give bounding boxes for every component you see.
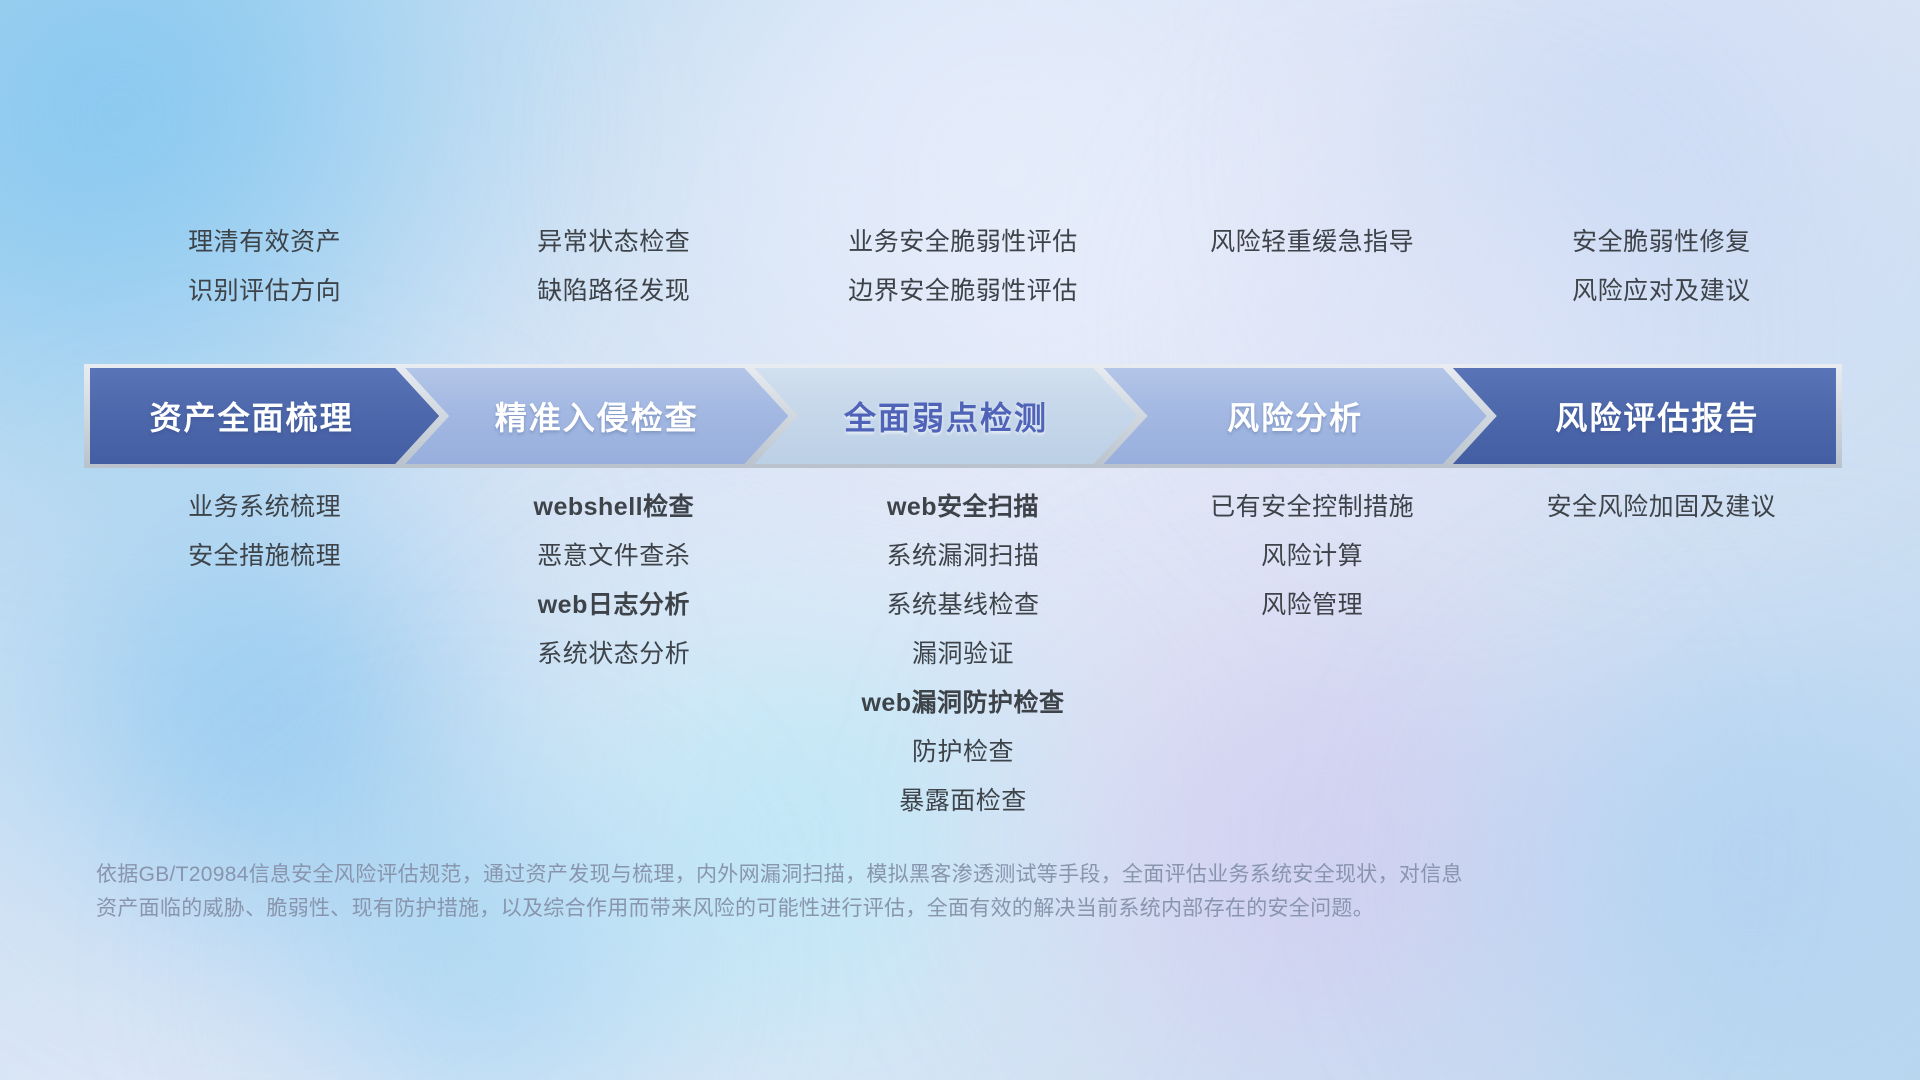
stage-activity-item: web日志分析 — [538, 593, 690, 618]
stage-activity-item: 安全措施梳理 — [188, 544, 341, 569]
stage-inputs-row: 理清有效资产识别评估方向异常状态检查缺陷路径发现业务安全脆弱性评估边界安全脆弱性… — [0, 230, 1920, 340]
process-arrow-label: 全面弱点检测 — [754, 393, 1137, 439]
stage-input-item: 理清有效资产 — [188, 230, 341, 255]
stage-input-item: 风险应对及建议 — [1572, 279, 1751, 304]
process-arrow-label: 资产全面梳理 — [90, 393, 439, 439]
stage-input-item: 异常状态检查 — [537, 230, 690, 255]
stage-activity-item: 系统漏洞扫描 — [886, 544, 1039, 569]
stage-activity-item: web漏洞防护检查 — [861, 691, 1064, 716]
stage-activity-item: 防护检查 — [912, 740, 1014, 765]
stage-activity-item: webshell检查 — [534, 495, 695, 520]
process-arrow-1[interactable]: 资产全面梳理 — [90, 368, 439, 464]
stage-input-item: 业务安全脆弱性评估 — [848, 230, 1078, 255]
stage-inputs-column: 业务安全脆弱性评估边界安全脆弱性评估 — [763, 230, 1163, 328]
stage-input-item: 边界安全脆弱性评估 — [848, 279, 1078, 304]
stage-activity-item: 暴露面检查 — [899, 789, 1027, 814]
process-arrow-label: 风险分析 — [1104, 393, 1487, 439]
stage-activity-item: web安全扫描 — [887, 495, 1039, 520]
stage-inputs-column: 风险轻重缓急指导 — [1112, 230, 1512, 279]
stage-input-item: 识别评估方向 — [188, 279, 341, 304]
stage-activities-column: web安全扫描系统漏洞扫描系统基线检查漏洞验证web漏洞防护检查防护检查暴露面检… — [763, 495, 1163, 838]
stage-input-item: 风险轻重缓急指导 — [1210, 230, 1414, 255]
stage-activities-column: 安全风险加固及建议 — [1461, 495, 1861, 544]
stage-activity-item: 已有安全控制措施 — [1210, 495, 1414, 520]
process-arrow-5[interactable]: 风险评估报告 — [1453, 368, 1836, 464]
stage-activity-item: 安全风险加固及建议 — [1547, 495, 1777, 520]
footer-line-2: 资产面临的威胁、脆弱性、现有防护措施，以及综合作用而带来风险的可能性进行评估，全… — [96, 892, 1656, 926]
footer-description: 依据GB/T20984信息安全风险评估规范，通过资产发现与梳理，内外网漏洞扫描，… — [96, 858, 1656, 926]
stage-activity-item: 风险管理 — [1261, 593, 1363, 618]
process-arrow-2[interactable]: 精准入侵检查 — [405, 368, 788, 464]
stage-activity-item: 恶意文件查杀 — [537, 544, 690, 569]
stage-activities-column: webshell检查恶意文件查杀web日志分析系统状态分析 — [414, 495, 814, 691]
stage-inputs-column: 理清有效资产识别评估方向 — [65, 230, 465, 328]
process-arrow-band: 资产全面梳理精准入侵检查全面弱点检测风险分析风险评估报告 — [90, 368, 1836, 464]
stage-inputs-column: 安全脆弱性修复风险应对及建议 — [1461, 230, 1861, 328]
process-arrow-label: 精准入侵检查 — [405, 393, 788, 439]
stage-activity-item: 系统状态分析 — [537, 642, 690, 667]
stage-activity-item: 漏洞验证 — [912, 642, 1014, 667]
slide-canvas: 理清有效资产识别评估方向异常状态检查缺陷路径发现业务安全脆弱性评估边界安全脆弱性… — [0, 0, 1920, 1080]
stage-activity-item: 风险计算 — [1261, 544, 1363, 569]
stage-activity-item: 系统基线检查 — [886, 593, 1039, 618]
stage-activity-item: 业务系统梳理 — [188, 495, 341, 520]
process-arrow-label: 风险评估报告 — [1453, 393, 1836, 439]
stage-input-item: 缺陷路径发现 — [537, 279, 690, 304]
footer-line-1: 依据GB/T20984信息安全风险评估规范，通过资产发现与梳理，内外网漏洞扫描，… — [96, 858, 1656, 892]
stage-input-item: 安全脆弱性修复 — [1572, 230, 1751, 255]
process-arrow-3[interactable]: 全面弱点检测 — [754, 368, 1137, 464]
stage-activities-column: 业务系统梳理安全措施梳理 — [65, 495, 465, 593]
stage-activities-row: 业务系统梳理安全措施梳理webshell检查恶意文件查杀web日志分析系统状态分… — [0, 495, 1920, 795]
stage-activities-column: 已有安全控制措施风险计算风险管理 — [1112, 495, 1512, 642]
process-arrow-4[interactable]: 风险分析 — [1104, 368, 1487, 464]
stage-inputs-column: 异常状态检查缺陷路径发现 — [414, 230, 814, 328]
